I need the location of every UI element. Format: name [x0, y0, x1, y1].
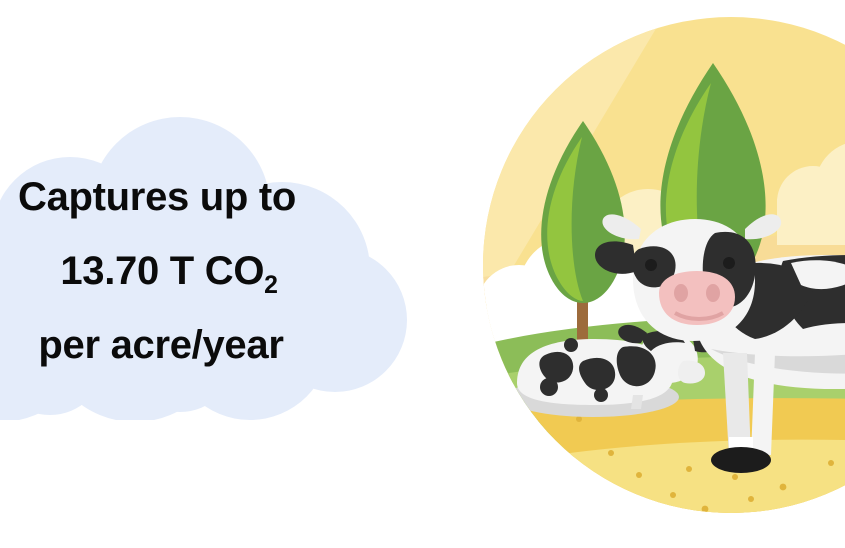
callout-line-3: per acre/year	[0, 308, 330, 382]
callout-text-block: Captures up to 13.70 T CO2 per acre/year	[0, 160, 330, 382]
cow-nostril-right	[706, 284, 720, 302]
calf-leg	[631, 395, 643, 409]
cow-muzzle	[659, 271, 735, 325]
farm-scene-illustration	[483, 17, 845, 513]
callout-value: 13.70	[60, 249, 159, 293]
ground-light	[483, 440, 845, 513]
cow-nostril-left	[674, 284, 688, 302]
callout-line-2: 13.70 T CO2	[8, 234, 330, 308]
cow-leg-back	[751, 353, 775, 455]
callout-line-1: Captures up to	[0, 160, 330, 234]
infographic-canvas: Captures up to 13.70 T CO2 per acre/year	[0, 0, 845, 548]
cow-hoof	[711, 447, 771, 473]
callout-unit: T CO	[170, 249, 264, 293]
cow-eye-left	[645, 259, 657, 271]
cow-eye-right	[723, 257, 735, 269]
callout-subscript: 2	[264, 272, 278, 299]
